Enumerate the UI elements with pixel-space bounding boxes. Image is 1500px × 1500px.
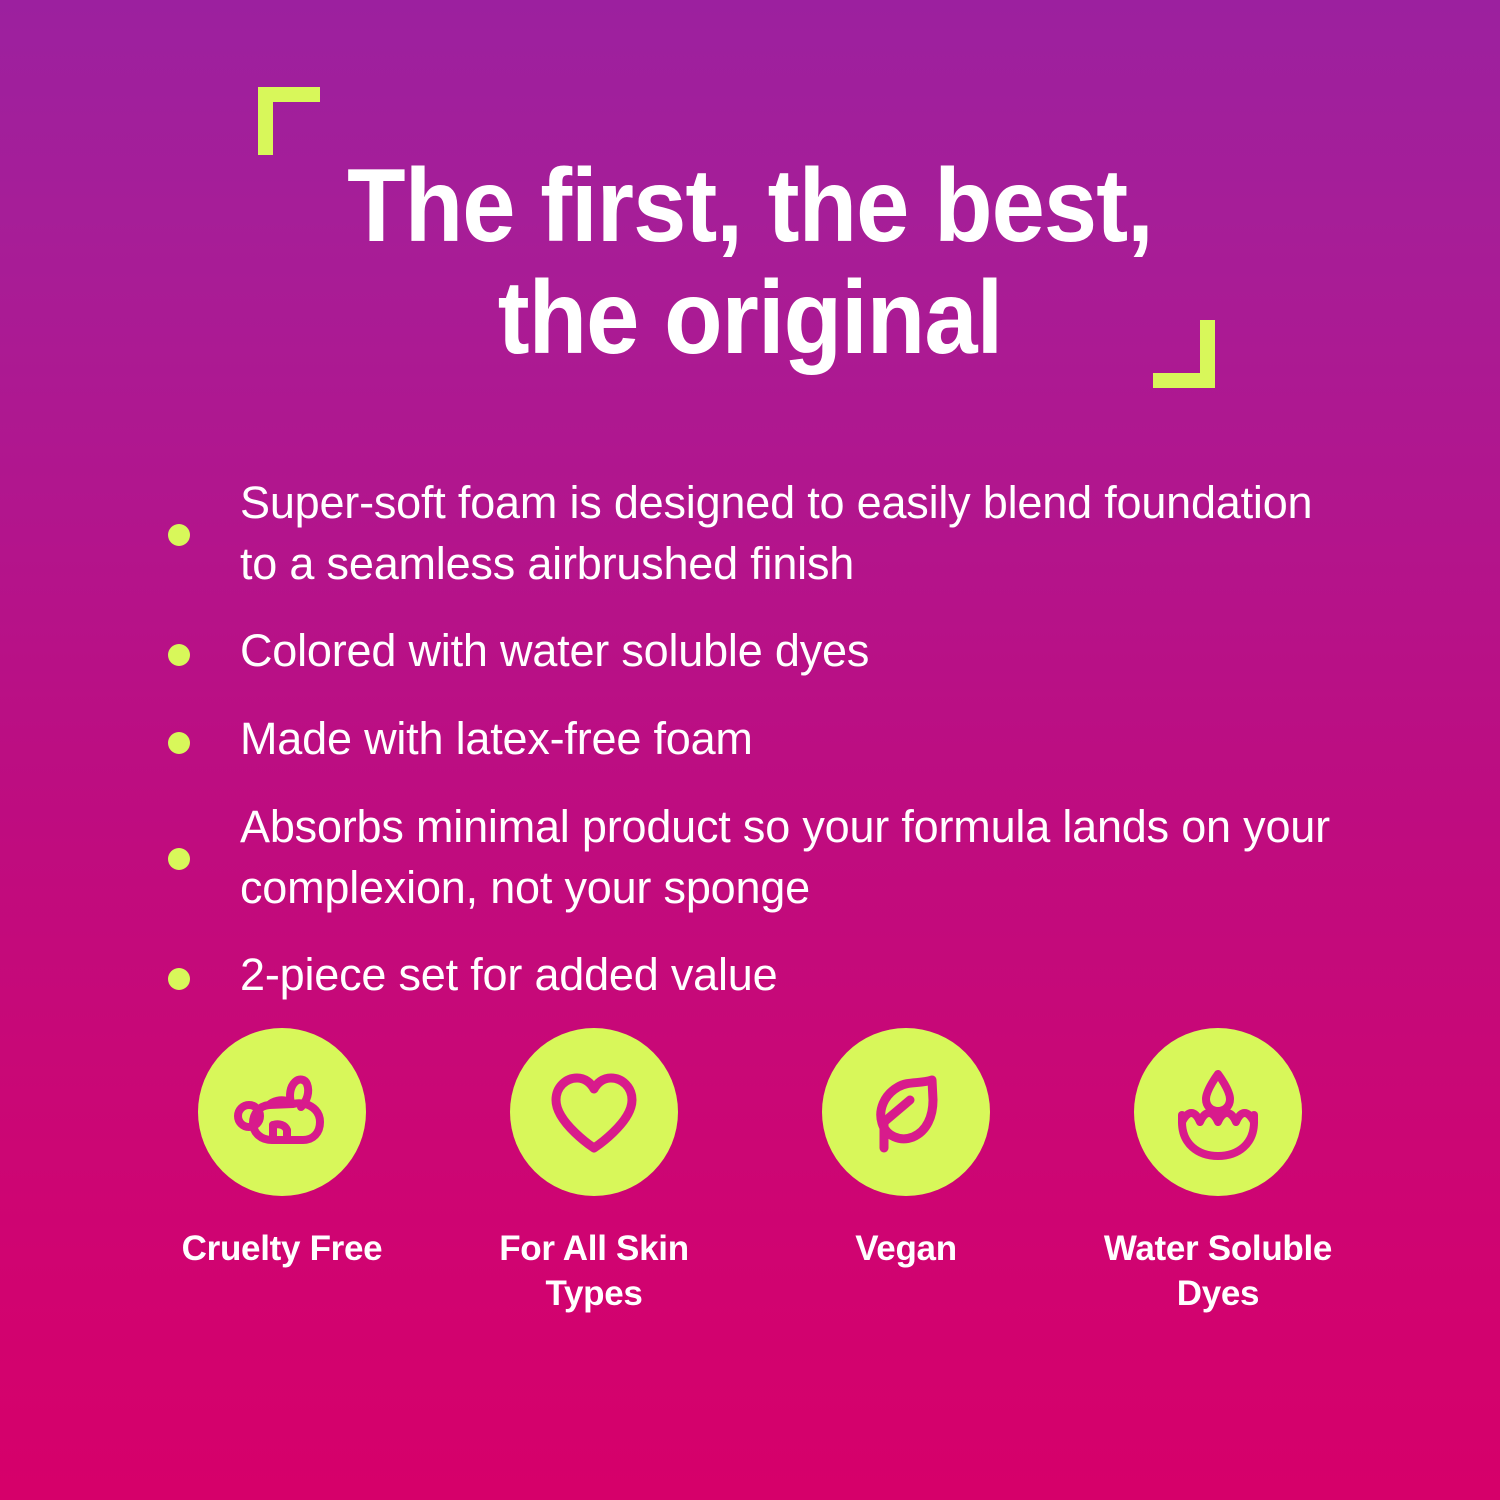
bullet-text: Made with latex-free foam [240,708,1348,769]
badge-vegan: Vegan [774,1028,1038,1316]
list-item: Absorbs minimal product so your formula … [168,796,1348,918]
badge-circle [1134,1028,1302,1196]
bullet-text: 2-piece set for added value [240,944,1348,1005]
bracket-horizontal-bar [1153,373,1215,388]
certification-badge-row: Cruelty Free For All Skin Types [150,1028,1350,1316]
list-item: Super-soft foam is designed to easily bl… [168,472,1348,594]
badge-label: Water Soluble Dyes [1093,1226,1343,1316]
badge-label: Vegan [855,1226,957,1271]
badge-cruelty-free: Cruelty Free [150,1028,414,1316]
leaf-icon [854,1060,958,1164]
bullet-dot-icon [168,524,190,546]
badge-for-all-skin-types: For All Skin Types [462,1028,726,1316]
bullet-dot-icon [168,848,190,870]
bullet-dot-icon [168,968,190,990]
list-item: 2-piece set for added value [168,944,1348,1006]
headline: The first, the best, the original [60,150,1440,374]
feature-bullet-list: Super-soft foam is designed to easily bl… [168,472,1348,1006]
bullet-dot-icon [168,644,190,666]
headline-line-1: The first, the best, [60,150,1440,262]
badge-circle [510,1028,678,1196]
badge-water-soluble-dyes: Water Soluble Dyes [1086,1028,1350,1316]
bullet-text: Super-soft foam is designed to easily bl… [240,472,1348,594]
headline-line-2: the original [60,262,1440,374]
rabbit-icon [227,1057,337,1167]
corner-bracket-top-left [258,87,320,155]
bullet-text: Colored with water soluble dyes [240,620,1348,681]
product-feature-card: The first, the best, the original Super-… [0,0,1500,1500]
badge-label: Cruelty Free [182,1226,383,1271]
heart-icon [542,1060,646,1164]
badge-circle [198,1028,366,1196]
list-item: Colored with water soluble dyes [168,620,1348,682]
droplet-bowl-icon [1164,1058,1272,1166]
list-item: Made with latex-free foam [168,708,1348,770]
bracket-horizontal-bar [258,87,320,102]
bullet-dot-icon [168,732,190,754]
bullet-text: Absorbs minimal product so your formula … [240,796,1348,918]
badge-label: For All Skin Types [469,1226,719,1316]
badge-circle [822,1028,990,1196]
